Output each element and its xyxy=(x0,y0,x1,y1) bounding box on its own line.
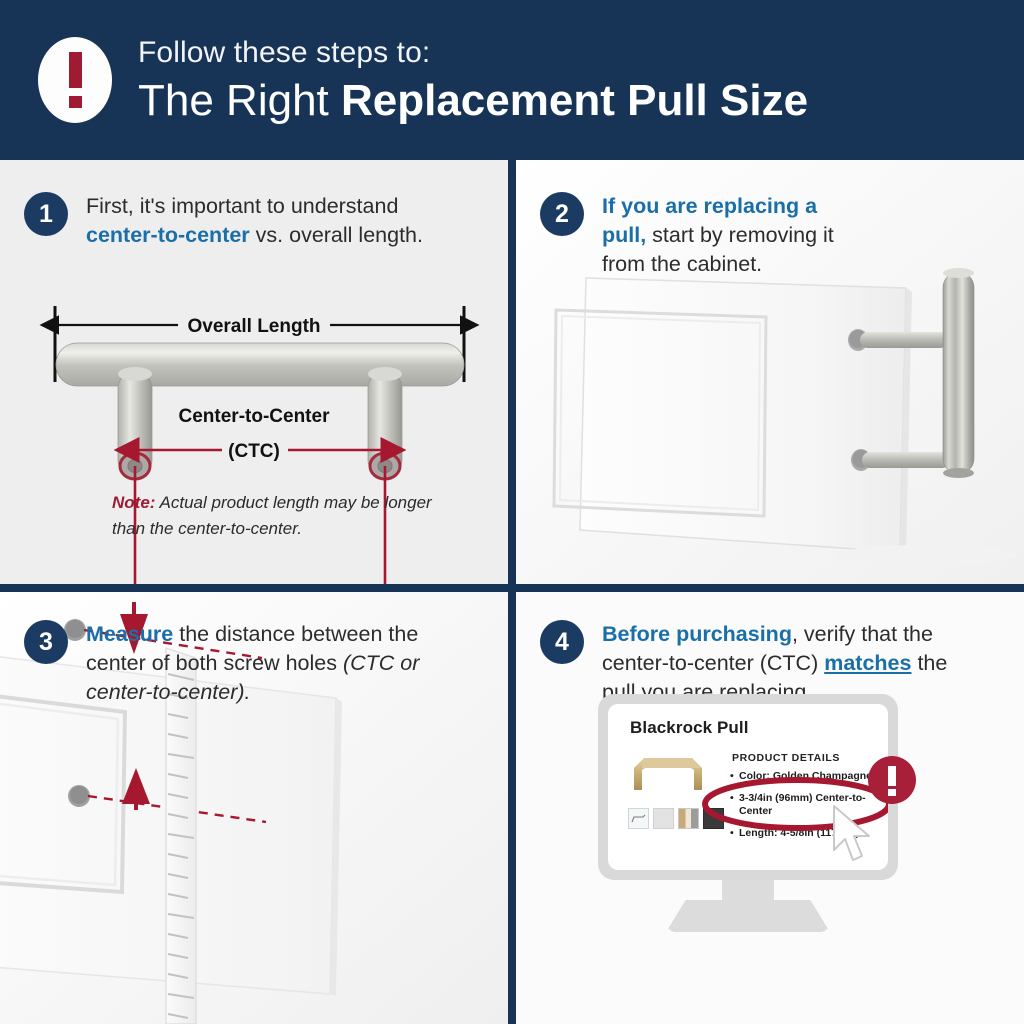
infographic-page: Follow these steps to: The Right Replace… xyxy=(0,0,1024,1024)
step-3-text: Measure the distance between the center … xyxy=(86,620,458,708)
step-3-number: 3 xyxy=(24,620,68,664)
alert-exclamation-icon xyxy=(868,756,916,804)
steps-grid: 1 First, it's important to understand ce… xyxy=(0,160,1024,1024)
step-2-heading: 2 If you are replacing a pull, start by … xyxy=(540,192,862,280)
product-hero-pull-image xyxy=(626,748,712,798)
step-4-text-link[interactable]: matches xyxy=(824,651,911,675)
product-page-monitor: Blackrock Pull xyxy=(598,694,898,934)
exclamation-circle-icon xyxy=(38,37,112,123)
pull-line-drawing-thumb[interactable] xyxy=(628,808,649,829)
product-details-heading: PRODUCT DETAILS xyxy=(732,752,840,764)
header-kicker: Follow these steps to: xyxy=(138,36,808,69)
product-title: Blackrock Pull xyxy=(630,718,749,738)
header-text-block: Follow these steps to: The Right Replace… xyxy=(138,36,808,124)
step-1-note: Note: Actual product length may be longe… xyxy=(112,490,442,541)
ctc-label-line1: Center-to-Center xyxy=(179,406,331,427)
ctc-label-line2: (CTC) xyxy=(228,441,280,462)
step-3-heading: 3 Measure the distance between the cente… xyxy=(24,620,458,708)
page-title: The Right Replacement Pull Size xyxy=(138,78,808,124)
note-label: Note: xyxy=(112,493,155,512)
pull-silver-thumb[interactable] xyxy=(653,808,674,829)
page-title-light: The Right xyxy=(138,76,341,125)
step-panel-2: 2 If you are replacing a pull, start by … xyxy=(516,160,1024,584)
pull-gold-thumb[interactable] xyxy=(678,808,699,829)
overall-length-label: Overall Length xyxy=(187,316,320,337)
step-panel-4: 4 Before purchasing, verify that the cen… xyxy=(516,592,1024,1024)
step-2-number: 2 xyxy=(540,192,584,236)
page-title-bold: Replacement Pull Size xyxy=(341,76,808,125)
monitor-base xyxy=(666,900,830,932)
page-header: Follow these steps to: The Right Replace… xyxy=(0,0,1024,160)
step-4-number: 4 xyxy=(540,620,584,664)
step-2-text: If you are replacing a pull, start by re… xyxy=(602,192,862,280)
step-3-text-highlight: Measure xyxy=(86,622,173,646)
step-panel-1: 1 First, it's important to understand ce… xyxy=(0,160,508,584)
note-text: Actual product length may be longer than… xyxy=(112,493,432,538)
step-4-text-highlight: Before purchasing xyxy=(602,622,792,646)
mouse-pointer-icon xyxy=(830,804,876,866)
step-panel-3: 3 Measure the distance between the cente… xyxy=(0,592,508,1024)
